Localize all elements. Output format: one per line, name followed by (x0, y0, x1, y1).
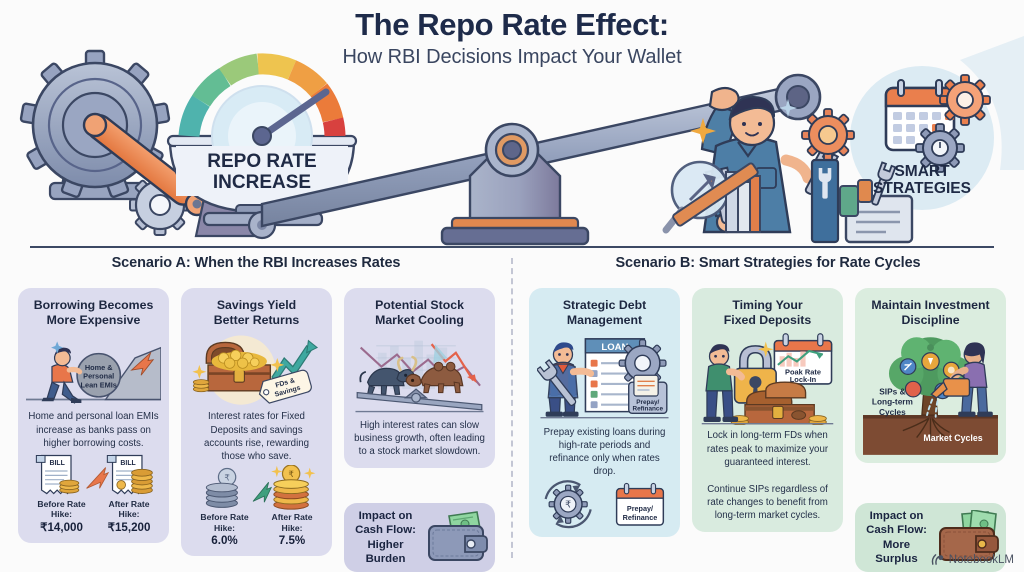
card-body: Prepay existing loans during high-rate p… (537, 422, 672, 480)
impact-line2: Cash Flow: (866, 524, 927, 536)
ground-label: Market Cycles (923, 433, 982, 443)
stat-value: ₹14,000 (26, 520, 97, 535)
worker-person (537, 342, 591, 416)
card-title-line1: Savings Yield (217, 298, 296, 312)
impact-line1: Impact on (359, 510, 413, 522)
card-strategic-debt-management[interactable]: Strategic Debt Management LOAN (529, 288, 680, 537)
card-maintain-investment-discipline[interactable]: Maintain Investment Discipline (855, 288, 1006, 463)
card-column-2: Savings Yield Better Returns (175, 288, 338, 572)
impact-box-cash-flow-higher-burden[interactable]: Impact on Cash Flow: Higher Burden (344, 503, 495, 572)
watermark-label: NotebookLM (949, 554, 1014, 566)
silver-stack: ₹ (206, 468, 237, 507)
impact-line3: More Surplus (875, 539, 917, 565)
impact-line3: Higher Burden (366, 539, 406, 565)
tree-label-line3: Cycles (879, 407, 906, 417)
coin-stack-small (60, 480, 79, 493)
card-title-line1: Strategic Debt (563, 298, 646, 312)
coin-stack-tall (132, 469, 153, 493)
stat-value: 7.5% (260, 533, 324, 548)
card-potential-stock-market-cooling[interactable]: Potential Stock Market Cooling (344, 288, 495, 468)
svg-text:₹: ₹ (224, 473, 230, 483)
badge-label-line2: Refinance (623, 513, 658, 522)
stats-row: Before Rate Hike: ₹14,000 After Rate Hik… (26, 499, 161, 536)
card-art-investment-tree: SIPs & Long-term Cycles Market Cycles (863, 332, 998, 455)
card-title: Potential Stock Market Cooling (375, 298, 464, 328)
card-title: Maintain Investment Discipline (871, 298, 989, 328)
card-body: Lock in long-term FDs when rates peak to… (700, 425, 835, 470)
title-block: The Repo Rate Effect: How RBI Decisions … (0, 8, 1024, 69)
page-subtitle: How RBI Decisions Impact Your Wallet (0, 46, 1024, 69)
stat-before: Before Rate Hike: 6.0% (189, 512, 260, 549)
calendar-orange-gear-icon (940, 75, 990, 125)
card-title-line1: Borrowing Becomes (34, 298, 154, 312)
bill-label: BILL (49, 460, 64, 467)
scenario-b-heading: Scenario B: Smart Strategies for Rate Cy… (512, 255, 1024, 271)
stat-before: Before Rate Hike: ₹14,000 (26, 499, 97, 536)
card-title-line2: Management (567, 313, 642, 327)
note-label-line1: Prepay/ (636, 399, 659, 406)
card-body-secondary: Continue SIPs regardless of rate changes… (700, 471, 835, 524)
badge-label-line1: Prepay/ (627, 505, 653, 514)
calendar-peak-rate: Poak Rate Lock-In (774, 334, 831, 384)
boulder-label-line3: Lean EMIs (81, 380, 117, 389)
card-title-line2: Fixed Deposits (724, 313, 811, 327)
card-art-treasure-chest: FDs & Savings (189, 332, 324, 406)
stat-after: After Rate Hike: 7.5% (260, 512, 324, 549)
calendar-badge-prepay: Prepay/ Refinance (617, 484, 664, 526)
prepay-note: Prepay/ Refinance (629, 375, 667, 413)
badge-label-line2: STRATEGIES (873, 180, 971, 197)
card-art-bull-bear-seesaw (352, 332, 487, 415)
sparkle-icon (271, 466, 282, 477)
impact-label: Impact on Cash Flow: Higher Burden (350, 509, 421, 566)
notebooklm-logo-icon (930, 552, 945, 567)
card-art-coin-comparison: ₹ ₹ (189, 465, 324, 510)
card-title: Savings Yield Better Returns (214, 298, 299, 328)
hero-section: REPO RATE INCREASE (0, 0, 1024, 248)
bill-before: BILL (36, 455, 78, 493)
card-title-line1: Potential Stock (375, 298, 464, 312)
page-title: The Repo Rate Effect: (0, 8, 1024, 42)
card-art-refinance-cycle: ₹ Prepay/ Refinance (537, 480, 672, 528)
stats-row: Before Rate Hike: 6.0% After Rate Hike: … (189, 512, 324, 549)
impact-label: Impact on Cash Flow: More Surplus (861, 509, 932, 566)
card-column-4: Strategic Debt Management LOAN (523, 288, 686, 572)
card-title: Borrowing Becomes More Expensive (34, 298, 154, 328)
notebooklm-watermark: NotebookLM (930, 552, 1014, 567)
wallet-icon-blue (423, 510, 489, 566)
card-body: Home and personal loan EMIs increase as … (26, 406, 161, 451)
card-title-line2: Discipline (901, 313, 959, 327)
card-column-1: Borrowing Becomes More Expensive Home & … (12, 288, 175, 572)
card-column-5: Timing Your Fixed Deposits (686, 288, 849, 572)
card-column-3: Potential Stock Market Cooling (338, 288, 501, 572)
card-title-line2: More Expensive (47, 313, 141, 327)
orange-gear-icon (802, 109, 854, 161)
stat-label: After Rate Hike: (97, 499, 161, 520)
stat-value: ₹15,200 (97, 520, 161, 535)
pushing-person (42, 342, 82, 403)
stat-label: After Rate Hike: (260, 512, 324, 533)
boulder-label-line1: Home & (85, 363, 113, 372)
sparkle-icon (304, 467, 315, 478)
svg-text:₹: ₹ (288, 470, 294, 480)
card-title-line2: Market Cooling (375, 313, 464, 327)
tree-label-line1: SIPs & (879, 386, 905, 396)
card-art-lock-chest: Poak Rate Lock-In (700, 332, 835, 425)
card-title-line1: Maintain Investment (871, 298, 989, 312)
stat-value: 6.0% (189, 533, 260, 548)
gauge-label-line1: REPO RATE (207, 151, 316, 172)
note-label-line2: Refinance (632, 406, 663, 413)
boulder-label-line2: Personal (83, 372, 114, 381)
coins-left (193, 380, 209, 392)
rupee-gear-icon: ₹ (546, 482, 591, 528)
bill-label: BILL (120, 460, 135, 467)
impact-line2: Cash Flow: (355, 524, 416, 536)
bill-after: BILL (107, 455, 152, 493)
card-title: Strategic Debt Management (563, 298, 646, 328)
stat-label: Before Rate Hike: (189, 512, 260, 533)
hero-divider-line (30, 246, 994, 248)
scenario-a-heading: Scenario A: When the RBI Increases Rates (0, 255, 512, 271)
sparkle-icon (192, 365, 206, 379)
stat-after: After Rate Hike: ₹15,200 (97, 499, 161, 536)
impact-line1: Impact on (870, 510, 924, 522)
card-title-line2: Better Returns (214, 313, 299, 327)
card-art-bills-comparison: BILL (26, 452, 161, 497)
card-timing-your-fixed-deposits[interactable]: Timing Your Fixed Deposits (692, 288, 843, 532)
tree-label-line2: Long-term (872, 397, 913, 407)
infographic-page: REPO RATE INCREASE (0, 0, 1024, 572)
gauge-label-line2: INCREASE (213, 172, 311, 193)
card-column-6: Maintain Investment Discipline (849, 288, 1012, 572)
card-title-line1: Timing Your (732, 298, 802, 312)
svg-text:₹: ₹ (565, 500, 571, 511)
card-body: High interest rates can slow business gr… (352, 415, 487, 460)
card-savings-yield-better-returns[interactable]: Savings Yield Better Returns (181, 288, 332, 556)
card-borrowing-becomes-more-expensive[interactable]: Borrowing Becomes More Expensive Home & … (18, 288, 169, 543)
card-body: Interest rates for Fixed Deposits and sa… (189, 406, 324, 464)
card-art-loan-document: LOAN (537, 332, 672, 422)
badge-label-line1: SMART (894, 163, 950, 180)
card-title: Timing Your Fixed Deposits (724, 298, 811, 328)
cards-grid: Borrowing Becomes More Expensive Home & … (0, 288, 1024, 572)
stat-label: Before Rate Hike: (26, 499, 97, 520)
card-art-boulder-push: Home & Personal Lean EMIs (26, 332, 161, 406)
